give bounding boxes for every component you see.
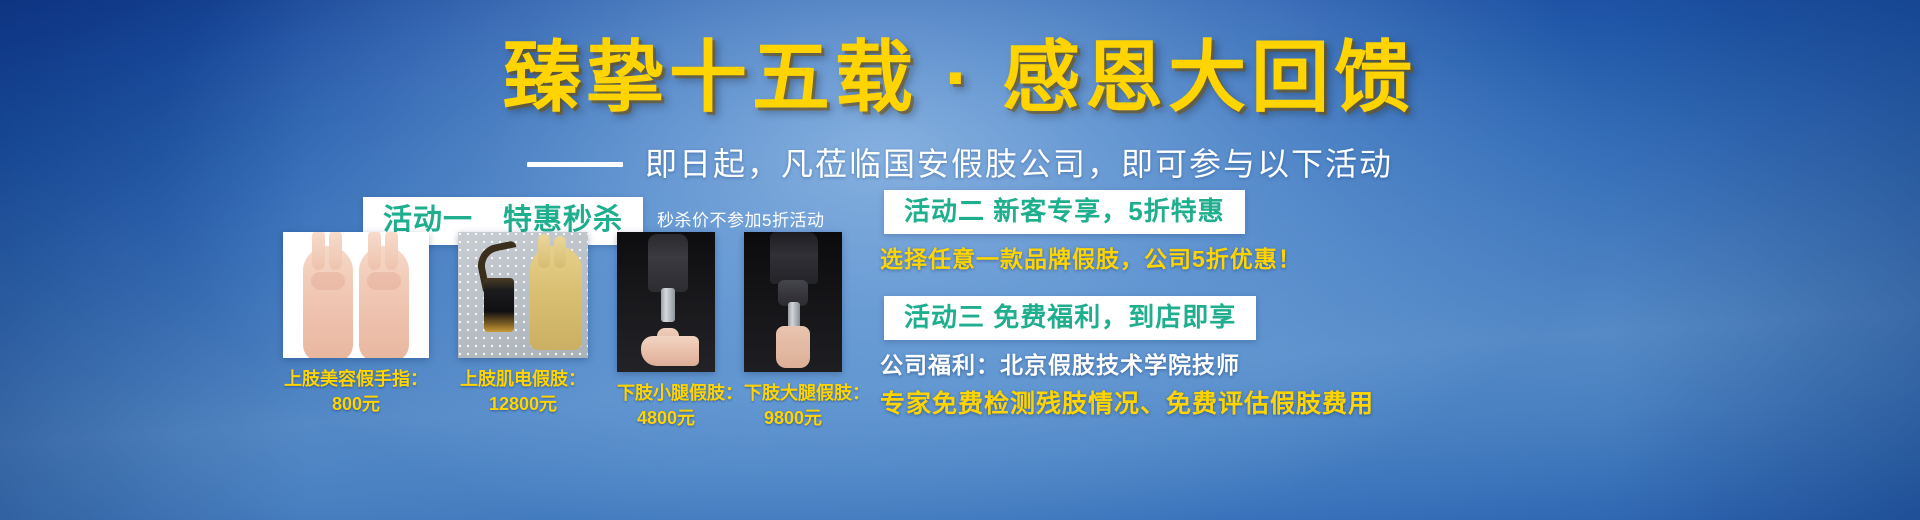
product-name: 上肢美容假手指：: [284, 369, 428, 389]
socket-shape: [770, 232, 818, 284]
subtitle-text: 即日起，凡莅临国安假肢公司，即可参与以下活动: [645, 144, 1393, 184]
list-item[interactable]: 下肢大腿假肢： 9800元: [744, 232, 842, 431]
product-name: 下肢小腿假肢：: [617, 383, 743, 403]
cosmetic-finger-prosthesis-photo[interactable]: [283, 232, 429, 358]
socket-shape: [648, 234, 688, 292]
product-caption: 上肢美容假手指： 800元: [283, 367, 429, 417]
product-caption: 上肢肌电假肢： 12800元: [458, 367, 588, 417]
product-caption: 下肢小腿假肢： 4800元: [617, 381, 715, 431]
list-item[interactable]: 下肢小腿假肢： 4800元: [617, 232, 715, 431]
page-title: 臻挚十五载 · 感恩大回馈: [0, 34, 1920, 120]
activity-three-badge[interactable]: 活动三 免费福利，到店即享: [884, 296, 1256, 340]
below-knee-prosthesis-photo[interactable]: [617, 232, 715, 372]
product-price: 4800元: [617, 406, 715, 431]
activity-one-note: 秒杀价不参加5折活动: [657, 210, 824, 232]
promo-banner: 臻挚十五载 · 感恩大回馈 即日起，凡莅临国安假肢公司，即可参与以下活动 活动一…: [0, 0, 1920, 520]
product-caption: 下肢大腿假肢： 9800元: [744, 381, 842, 431]
activity-three-block: 活动三 免费福利，到店即享 公司福利：北京假肢技术学院技师 专家免费检测残肢情况…: [880, 274, 1640, 421]
wrist-connector-shape: [484, 278, 514, 332]
product-price: 800元: [283, 392, 429, 417]
list-item[interactable]: 上肢肌电假肢： 12800元: [458, 232, 588, 417]
cosmetic-glove-shape: [530, 246, 582, 350]
activity-two-badge[interactable]: 活动二 新客专享，5折特惠: [884, 190, 1245, 234]
product-list: 上肢美容假手指： 800元 上肢肌电假肢： 12800元: [283, 232, 842, 431]
shin-cover-shape: [776, 326, 810, 368]
activity-right-column: 活动二 新客专享，5折特惠 选择任意一款品牌假肢，公司5折优惠！ 活动三 免费福…: [880, 190, 1640, 421]
product-name: 上肢肌电假肢：: [460, 369, 586, 389]
activity-two-detail: 选择任意一款品牌假肢，公司5折优惠！: [880, 244, 1640, 274]
pylon-shape: [661, 288, 675, 322]
divider-rule-icon: [527, 162, 623, 167]
activity-three-detail-line2: 专家免费检测残肢情况、免费评估假肢费用: [880, 388, 1640, 421]
myoelectric-arm-prosthesis-photo[interactable]: [458, 232, 588, 358]
activity-two-block: 活动二 新客专享，5折特惠 选择任意一款品牌假肢，公司5折优惠！: [880, 190, 1640, 274]
hand-left-shape: [303, 246, 353, 358]
above-knee-prosthesis-photo[interactable]: [744, 232, 842, 372]
product-price: 12800元: [458, 392, 588, 417]
subtitle-row: 即日起，凡莅临国安假肢公司，即可参与以下活动: [0, 144, 1920, 184]
foot-shape: [641, 336, 699, 366]
hand-right-shape: [359, 246, 409, 358]
activity-three-detail-line1: 公司福利：北京假肢技术学院技师: [880, 350, 1640, 380]
list-item[interactable]: 上肢美容假手指： 800元: [283, 232, 429, 417]
product-price: 9800元: [744, 406, 842, 431]
product-name: 下肢大腿假肢：: [744, 383, 870, 403]
